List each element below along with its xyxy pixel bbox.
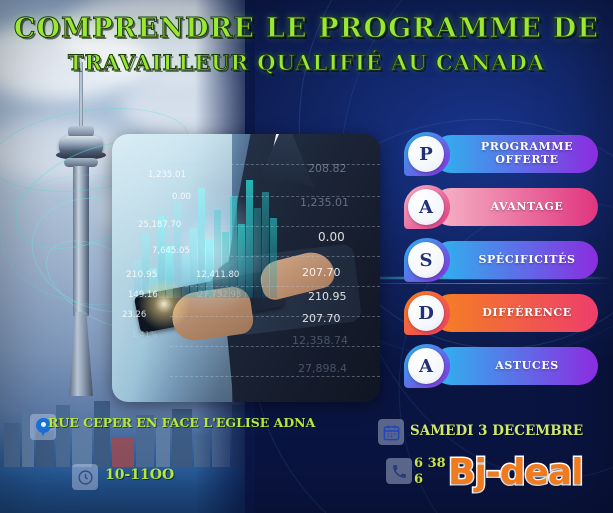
- building: [94, 401, 110, 467]
- holo-bar: [214, 210, 221, 298]
- holo-bar: [222, 232, 229, 298]
- menu-item-label: AVANTAGE: [491, 201, 564, 214]
- hero-number: 210.95: [308, 290, 347, 303]
- pin-tail: [40, 429, 47, 437]
- menu-letter-circle: A: [408, 348, 444, 384]
- tower-shaft: [73, 166, 89, 316]
- menu-item-label: PROGRAMME OFFERTE: [456, 141, 598, 166]
- pin-dot: [41, 422, 46, 427]
- building: [156, 427, 170, 467]
- lens-flare: [134, 274, 194, 334]
- building: [4, 423, 20, 467]
- pasda-menu: PROGRAMME OFFERTEPAVANTAGEASPÉCIFICITÉSS…: [404, 132, 604, 397]
- holo-bar: [198, 188, 205, 298]
- holo-bar: [230, 196, 237, 298]
- menu-letter-circle: P: [408, 136, 444, 172]
- data-grid-line: [170, 164, 380, 165]
- menu-letter-badge: D: [404, 291, 450, 335]
- title-line-1: COMPRENDRE LE PROGRAMME DE: [0, 14, 613, 44]
- menu-letter-badge: A: [404, 344, 450, 388]
- hero-number: 208.82: [308, 162, 347, 175]
- data-grid-line: [170, 376, 380, 377]
- menu-item-label: DIFFÉRENCE: [482, 307, 571, 320]
- address-text: RUE CEPER EN FACE L'EGLISE ADNA: [48, 415, 278, 432]
- holo-bar: [254, 208, 261, 298]
- menu-row-d-3[interactable]: DIFFÉRENCED: [404, 291, 604, 335]
- calendar-icon: [378, 419, 404, 445]
- hero-number: 7,645.05: [152, 246, 190, 256]
- clock-icon: [72, 464, 98, 490]
- hero-number: 149.16: [128, 290, 158, 300]
- date-text: SAMEDI 3 DECEMBRE: [410, 423, 583, 439]
- hero-number: 1,235.01: [300, 196, 349, 209]
- poster-canvas: COMPRENDRE LE PROGRAMME DE TRAVAILLEUR Q…: [0, 0, 613, 513]
- menu-row-a-1[interactable]: AVANTAGEA: [404, 185, 604, 229]
- menu-bar[interactable]: SPÉCIFICITÉS: [432, 241, 598, 279]
- menu-row-p-0[interactable]: PROGRAMME OFFERTEP: [404, 132, 604, 176]
- hero-number: 12,358.74: [292, 334, 348, 347]
- hero-number: 12,411.80: [196, 270, 239, 280]
- hero-number: 207.70: [302, 266, 341, 279]
- phone-line: 6 38: [414, 456, 446, 472]
- phone-line: 6: [414, 472, 446, 488]
- title-line-2: TRAVAILLEUR QUALIFIÉ AU CANADA: [0, 50, 613, 75]
- phone-text: 6 386: [414, 456, 446, 489]
- data-grid-line: [170, 256, 380, 257]
- menu-letter: S: [420, 250, 433, 271]
- menu-letter-circle: A: [408, 189, 444, 225]
- hero-number: 207.70: [302, 312, 341, 325]
- menu-item-label: SPÉCIFICITÉS: [478, 254, 575, 267]
- menu-letter: D: [418, 303, 434, 324]
- data-grid-line: [170, 226, 380, 227]
- hero-number: 210.95: [126, 270, 158, 280]
- hero-number: 0.00: [172, 192, 191, 202]
- menu-letter: A: [419, 197, 433, 218]
- menu-letter-circle: D: [408, 295, 444, 331]
- menu-letter: P: [419, 144, 433, 165]
- menu-bar[interactable]: ASTUCES: [432, 347, 598, 385]
- menu-bar[interactable]: DIFFÉRENCE: [432, 294, 598, 332]
- data-grid-line: [170, 316, 380, 317]
- menu-row-s-2[interactable]: SPÉCIFICITÉSS: [404, 238, 604, 282]
- hero-number: 25,187.70: [138, 220, 181, 230]
- menu-bar[interactable]: PROGRAMME OFFERTE: [432, 135, 598, 173]
- menu-row-a-4[interactable]: ASTUCESA: [404, 344, 604, 388]
- menu-letter: A: [419, 356, 433, 377]
- data-grid-line: [170, 286, 380, 287]
- hero-image-card: 1,235.010.0025,187.707,645.05210.95149.1…: [112, 134, 380, 402]
- hero-number: 0.00: [318, 230, 345, 244]
- page-title: COMPRENDRE LE PROGRAMME DE TRAVAILLEUR Q…: [0, 14, 613, 75]
- watermark-logo: Bj-deal: [448, 452, 583, 493]
- menu-bar[interactable]: AVANTAGE: [432, 188, 598, 226]
- hero-number: 27,752.93: [198, 290, 241, 300]
- hero-number: 1,235.01: [148, 170, 186, 180]
- hero-number: 23.26: [122, 310, 146, 320]
- data-grid-line: [170, 346, 380, 347]
- menu-letter-badge: P: [404, 132, 450, 176]
- cn-tower: [52, 62, 110, 392]
- time-text: 10-11OO: [105, 467, 174, 483]
- menu-letter-circle: S: [408, 242, 444, 278]
- holo-bar: [246, 180, 253, 298]
- menu-letter-badge: S: [404, 238, 450, 282]
- hero-number: 1.41%: [132, 330, 157, 339]
- phone-icon: [386, 458, 412, 484]
- menu-item-label: ASTUCES: [495, 360, 559, 373]
- hero-number: 27,898.4: [298, 362, 347, 375]
- building: [112, 437, 134, 467]
- tower-base: [69, 312, 93, 396]
- holo-bar: [262, 192, 269, 298]
- watermark-text: Bj-deal: [448, 452, 583, 493]
- menu-letter-badge: A: [404, 185, 450, 229]
